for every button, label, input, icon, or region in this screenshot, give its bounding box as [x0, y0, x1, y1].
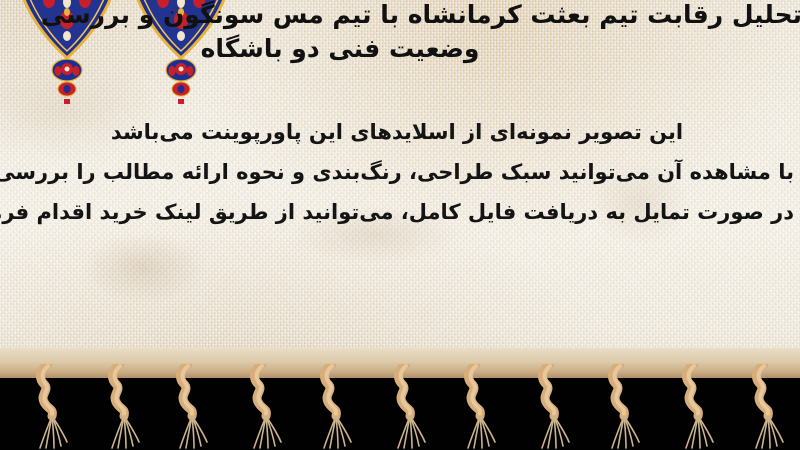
carpet-fringe — [0, 348, 800, 450]
slide-title: تحلیل رقابت تیم بعثت کرمانشاه با تیم مس … — [0, 0, 800, 66]
fringe-tassel — [600, 364, 646, 450]
fringe-tassel — [672, 364, 718, 450]
slide-body: این تصویر نمونه‌ای از اسلایدهای این پاور… — [0, 112, 800, 232]
fringe-tassel — [744, 364, 790, 450]
fringe-tassel — [312, 364, 358, 450]
body-line-3: در صورت تمایل به دریافت فایل کامل، می‌تو… — [0, 192, 794, 232]
fringe-tassel — [384, 364, 430, 450]
fringe-tassel — [528, 364, 574, 450]
body-line-2: با مشاهده آن می‌توانید سبک طراحی، رنگ‌بن… — [0, 152, 794, 192]
fringe-tassel — [240, 364, 286, 450]
fringe-tassel — [456, 364, 502, 450]
title-line-2: وضعیت فنی دو باشگاه — [0, 32, 800, 66]
fringe-tassel — [28, 364, 74, 450]
title-line-1: تحلیل رقابت تیم بعثت کرمانشاه با تیم مس … — [0, 0, 800, 32]
presentation-slide: تحلیل رقابت تیم بعثت کرمانشاه با تیم مس … — [0, 0, 800, 450]
fringe-tassel — [98, 364, 144, 450]
body-line-1: این تصویر نمونه‌ای از اسلایدهای این پاور… — [0, 112, 794, 152]
fringe-tassel — [168, 364, 214, 450]
